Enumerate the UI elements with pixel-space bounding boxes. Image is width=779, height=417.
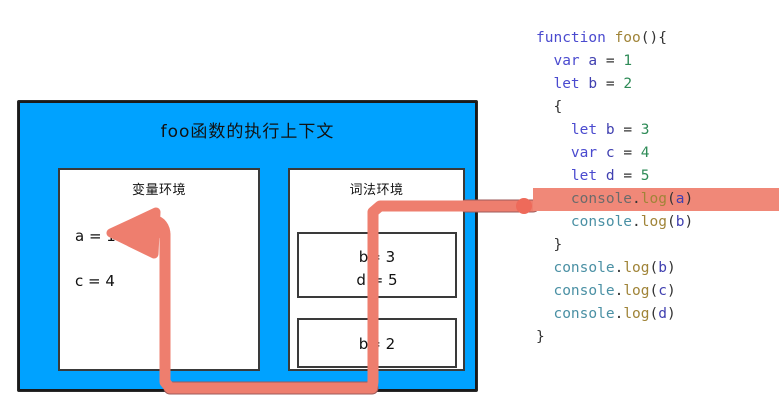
code-line[interactable]: console.log(d): [500, 303, 779, 326]
code-token: b: [588, 76, 597, 92]
code-indent: [536, 214, 571, 230]
code-line[interactable]: function foo(){: [500, 27, 779, 50]
code-token: ): [667, 283, 676, 299]
code-token: var: [553, 53, 579, 69]
code-token: ): [684, 191, 693, 207]
code-token: .: [615, 306, 624, 322]
code-token: (: [650, 306, 659, 322]
code-line[interactable]: let b = 3: [500, 119, 779, 142]
code-token: {: [553, 99, 562, 115]
code-line[interactable]: var c = 4: [500, 142, 779, 165]
code-line[interactable]: let d = 5: [500, 165, 779, 188]
code-line[interactable]: console.log(b): [500, 211, 779, 234]
code-token: .: [615, 260, 624, 276]
code-token: console: [553, 260, 614, 276]
code-token: =: [615, 122, 641, 138]
variable-entry-c: c = 4: [75, 272, 115, 290]
code-token: console: [553, 283, 614, 299]
code-token: c: [606, 145, 615, 161]
code-indent: [536, 237, 553, 253]
code-indent: [536, 168, 571, 184]
code-token: (: [667, 191, 676, 207]
code-token: c: [658, 283, 667, 299]
code-token: 1: [623, 53, 632, 69]
code-line[interactable]: console.log(c): [500, 280, 779, 303]
lexical-scope-block-outer: b= 2: [297, 318, 457, 368]
scope-binding-b3: b= 3: [299, 246, 455, 269]
scope-binding-b2: b= 2: [299, 333, 455, 356]
code-line[interactable]: console.log(b): [500, 257, 779, 280]
code-token: console: [571, 214, 632, 230]
code-token: foo: [615, 30, 641, 46]
execution-context-title: foo函数的执行上下文: [20, 117, 475, 142]
code-indent: [536, 53, 553, 69]
code-token: ): [667, 306, 676, 322]
code-token: d: [606, 168, 615, 184]
code-token: 5: [641, 168, 650, 184]
variable-entry-a: a = 1: [75, 227, 116, 245]
code-token: .: [615, 283, 624, 299]
code-token: log: [641, 191, 667, 207]
lexical-environment-title: 词法环境: [290, 179, 463, 198]
code-token: console: [553, 306, 614, 322]
variable-environment-box: 变量环境: [58, 168, 260, 371]
code-token: }: [536, 329, 545, 345]
code-listing: function foo(){ var a = 1 let b = 2 { le…: [500, 0, 779, 349]
code-token: console: [571, 191, 632, 207]
code-token: .: [632, 191, 641, 207]
code-token: =: [615, 145, 641, 161]
code-line[interactable]: }: [500, 234, 779, 257]
code-indent: [536, 145, 571, 161]
code-indent: [536, 191, 571, 207]
code-token: (: [650, 283, 659, 299]
code-indent: [536, 76, 553, 92]
code-token: ): [667, 260, 676, 276]
code-token: d: [658, 306, 667, 322]
code-token: 2: [623, 76, 632, 92]
code-token: (: [667, 214, 676, 230]
code-token: let: [571, 168, 597, 184]
code-token: }: [553, 237, 562, 253]
code-line[interactable]: var a = 1: [500, 50, 779, 73]
code-token: log: [641, 214, 667, 230]
code-token: let: [571, 122, 597, 138]
code-token: var: [571, 145, 597, 161]
code-token: (: [650, 260, 659, 276]
code-token: ): [684, 214, 693, 230]
code-token: 3: [641, 122, 650, 138]
execution-context-diagram: foo函数的执行上下文 变量环境 a = 1 c = 4 词法环境 b= 3 d…: [0, 0, 500, 417]
code-line[interactable]: let b = 2: [500, 73, 779, 96]
code-token: [597, 168, 606, 184]
code-token: (){: [641, 30, 667, 46]
code-indent: [536, 283, 553, 299]
code-panel: function foo(){ var a = 1 let b = 2 { le…: [500, 0, 779, 417]
scope-binding-d5: d = 5: [299, 269, 455, 292]
code-token: =: [615, 168, 641, 184]
code-token: 4: [641, 145, 650, 161]
code-token: =: [597, 53, 623, 69]
code-token: [597, 122, 606, 138]
code-indent: [536, 260, 553, 276]
code-line-highlighted[interactable]: console.log(a): [533, 188, 779, 211]
code-token: a: [588, 53, 597, 69]
code-token: b: [606, 122, 615, 138]
code-token: log: [623, 306, 649, 322]
code-indent: [536, 306, 553, 322]
code-token: b: [658, 260, 667, 276]
code-token: log: [623, 260, 649, 276]
code-token: [597, 145, 606, 161]
code-token: =: [597, 76, 623, 92]
lexical-scope-block-inner: b= 3 d = 5: [297, 232, 457, 298]
variable-environment-title: 变量环境: [60, 179, 258, 198]
code-token: .: [632, 214, 641, 230]
code-indent: [536, 122, 571, 138]
code-token: log: [623, 283, 649, 299]
code-token: [606, 30, 615, 46]
code-token: let: [553, 76, 579, 92]
code-indent: [536, 99, 553, 115]
code-line[interactable]: }: [500, 326, 779, 349]
code-token: function: [536, 30, 606, 46]
code-line[interactable]: {: [500, 96, 779, 119]
